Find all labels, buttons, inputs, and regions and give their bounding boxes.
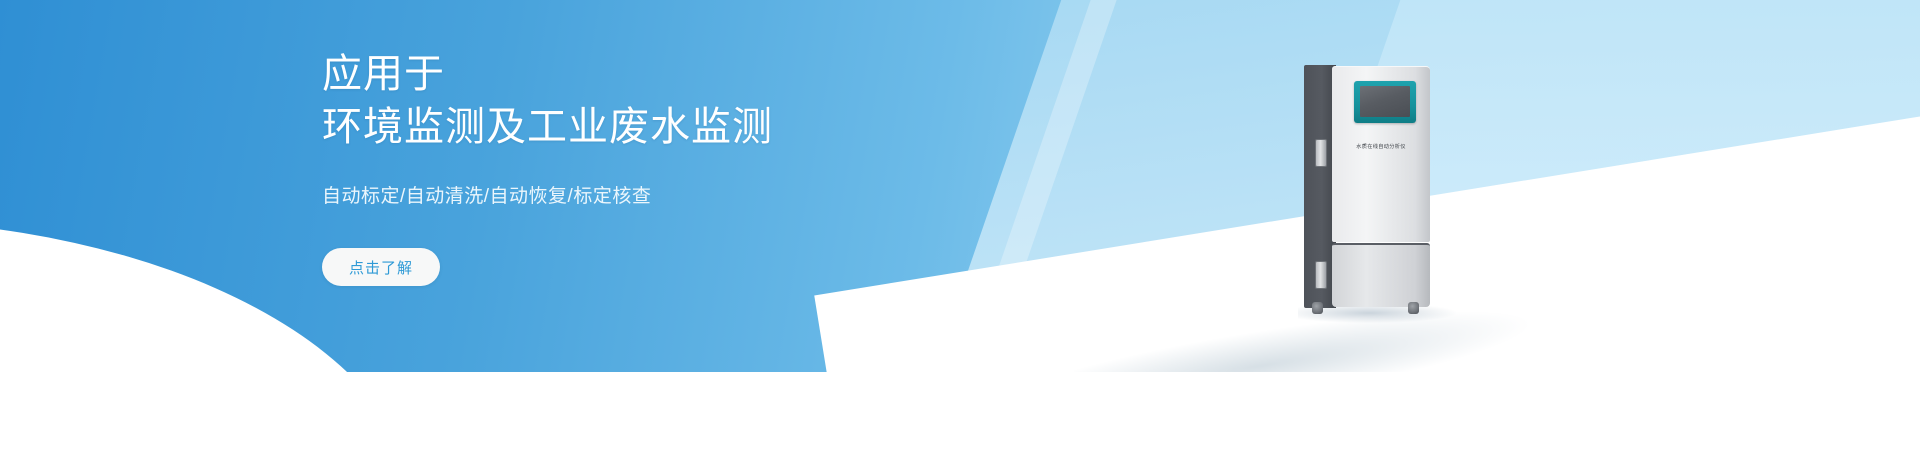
hero-banner: 应用于 环境监测及工业废水监测 自动标定/自动清洗/自动恢复/标定核查 点击了解… [0,0,1920,450]
banner-copy: 应用于 环境监测及工业废水监测 自动标定/自动清洗/自动恢复/标定核查 点击了解 [322,48,962,286]
device-caster-left [1312,302,1323,314]
device-label: 水质在线自动分析仪 [1332,143,1430,150]
device-screen-bezel [1354,81,1416,123]
device-lower-cabinet [1332,243,1430,307]
banner-headline: 应用于 环境监测及工业废水监测 [322,48,962,154]
learn-more-button[interactable]: 点击了解 [322,248,440,286]
product-image-water-quality-analyzer: 水质在线自动分析仪 [1304,65,1430,313]
device-lower-handle [1315,261,1327,289]
device-screen [1360,86,1410,117]
device-upper-cabinet: 水质在线自动分析仪 [1332,66,1430,242]
banner-subtitle: 自动标定/自动清洗/自动恢复/标定核查 [322,184,962,210]
device-caster-right [1408,302,1419,314]
device-upper-handle [1315,139,1327,167]
